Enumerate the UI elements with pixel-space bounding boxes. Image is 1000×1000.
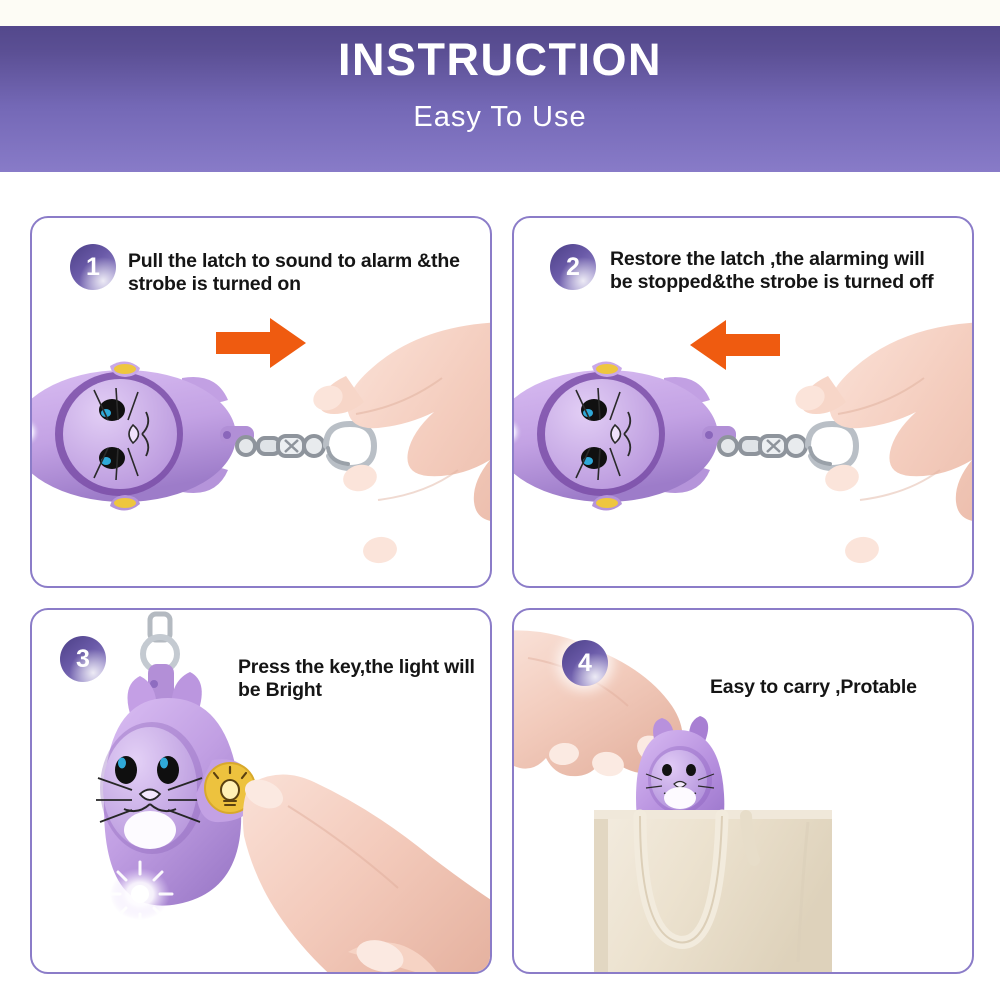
step-number-3: 3 — [76, 647, 90, 672]
step-number-badge-4: 4 — [562, 640, 608, 686]
step-description-2: Restore the latch ,the alarming will be … — [610, 248, 952, 294]
step-panel-2: 2 Restore the latch ,the alarming will b… — [512, 216, 974, 588]
page-title: INSTRUCTION — [0, 37, 1000, 82]
header-banner: INSTRUCTION Easy To Use — [0, 0, 1000, 172]
arrow-left-icon — [688, 318, 782, 372]
step-number-badge-1: 1 — [70, 244, 116, 290]
step-number-2: 2 — [566, 255, 580, 280]
page-subtitle: Easy To Use — [0, 103, 1000, 132]
step-number-4: 4 — [578, 651, 592, 676]
step-number-badge-3: 3 — [60, 636, 106, 682]
zigzag-edge-decoration — [0, 0, 1000, 26]
instruction-infographic: INSTRUCTION Easy To Use — [0, 0, 1000, 1000]
step-panel-1: 1 Pull the latch to sound to alarm &the … — [30, 216, 492, 588]
step-number-badge-2: 2 — [550, 244, 596, 290]
step-number-1: 1 — [86, 255, 100, 280]
step-panel-3: 3 Press the key,the light will be Bright — [30, 608, 492, 974]
step-description-3: Press the key,the light will be Bright — [238, 656, 476, 702]
step-description-1: Pull the latch to sound to alarm &the st… — [128, 250, 468, 296]
step-panel-4: 4 Easy to carry ,Protable — [512, 608, 974, 974]
arrow-right-icon — [214, 316, 308, 370]
step-description-4: Easy to carry ,Protable — [710, 676, 960, 699]
